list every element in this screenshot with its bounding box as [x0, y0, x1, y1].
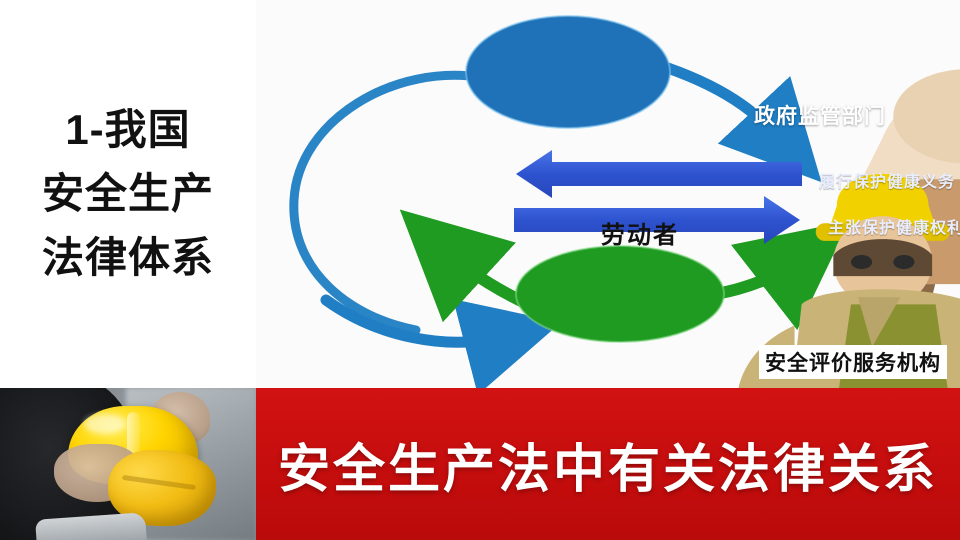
page-title-line-2: 安全生产	[42, 173, 214, 215]
worker-label: 劳动者	[601, 215, 679, 250]
duty-arrow-label: 履行保护健康义务	[819, 168, 955, 192]
legal-relationship-diagram: 政府监管部门 劳动者 用人 单位 安全评价服务机构 履行保护健康义务 主张保护健…	[256, 0, 960, 388]
banner-title: 安全生产法中有关法律关系	[278, 427, 938, 502]
red-banner: 安全生产法中有关法律关系	[256, 388, 960, 540]
hard-hat-shine	[84, 414, 126, 434]
gov-to-worker-arc	[294, 75, 484, 330]
agency-label: 安全评价服务机构	[759, 345, 947, 379]
right-arrow-label: 主张保护健康权利	[828, 214, 960, 238]
left-title-block: 1-我国 安全生产 法律体系	[0, 0, 256, 388]
slide-root: 1-我国 安全生产 法律体系	[0, 0, 960, 540]
government-label: 政府监管部门	[754, 100, 886, 130]
page-title-line-1: 1-我国	[65, 109, 190, 151]
yellow-hard-hat-and-gloves-photo	[0, 388, 256, 540]
page-title-line-3: 法律体系	[42, 237, 214, 279]
glove-crease	[122, 475, 196, 490]
